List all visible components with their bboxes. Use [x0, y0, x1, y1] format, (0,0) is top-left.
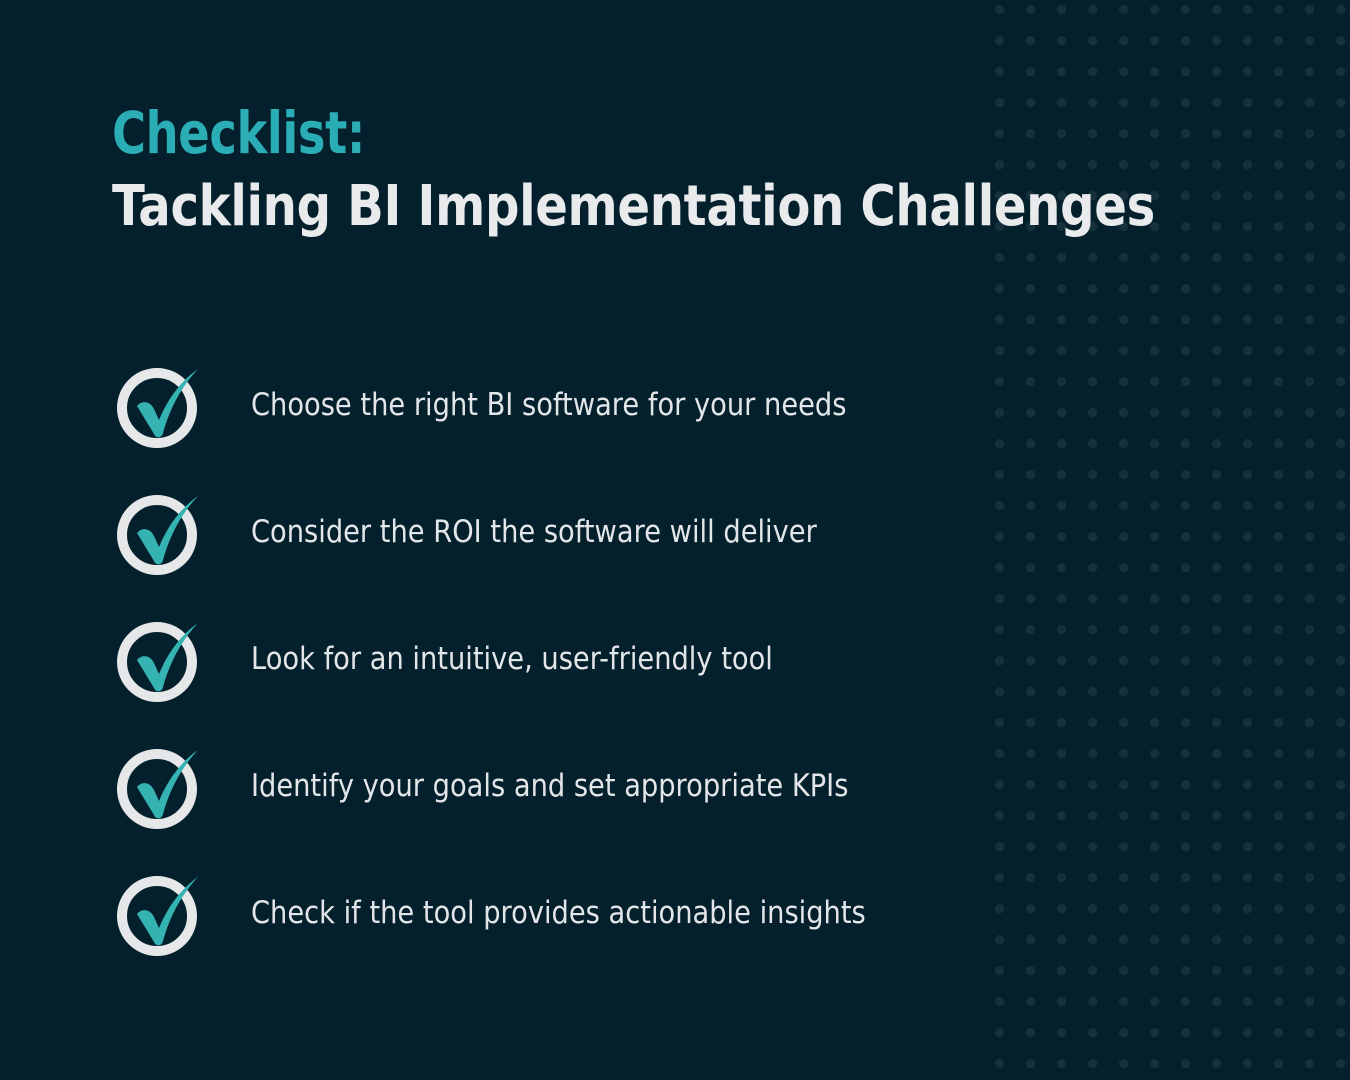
check-circle-icon [112, 866, 208, 962]
list-item-label: Identify your goals and set appropriate … [251, 768, 921, 805]
list-item: Look for an intuitive, user-friendly too… [112, 612, 1012, 708]
checklist: Choose the right BI software for your ne… [112, 358, 1012, 962]
checklist-poster: Checklist: Tackling BI Implementation Ch… [0, 0, 1350, 1080]
check-circle-icon [112, 739, 208, 835]
list-item-label: Choose the right BI software for your ne… [251, 387, 921, 424]
list-item-label: Look for an intuitive, user-friendly too… [251, 641, 921, 678]
list-item: Consider the ROI the software will deliv… [112, 485, 1012, 581]
check-circle-icon [112, 358, 208, 454]
list-item: Identify your goals and set appropriate … [112, 739, 1012, 835]
check-circle-icon [112, 612, 208, 708]
list-item-label: Consider the ROI the software will deliv… [251, 514, 921, 551]
heading-block: Checklist: Tackling BI Implementation Ch… [112, 104, 1252, 237]
list-item-label: Check if the tool provides actionable in… [251, 895, 921, 932]
list-item: Choose the right BI software for your ne… [112, 358, 1012, 454]
list-item: Check if the tool provides actionable in… [112, 866, 1012, 962]
page-title-kicker: Checklist: [112, 104, 1024, 162]
check-circle-icon [112, 485, 208, 581]
page-title: Tackling BI Implementation Challenges [112, 178, 1092, 237]
